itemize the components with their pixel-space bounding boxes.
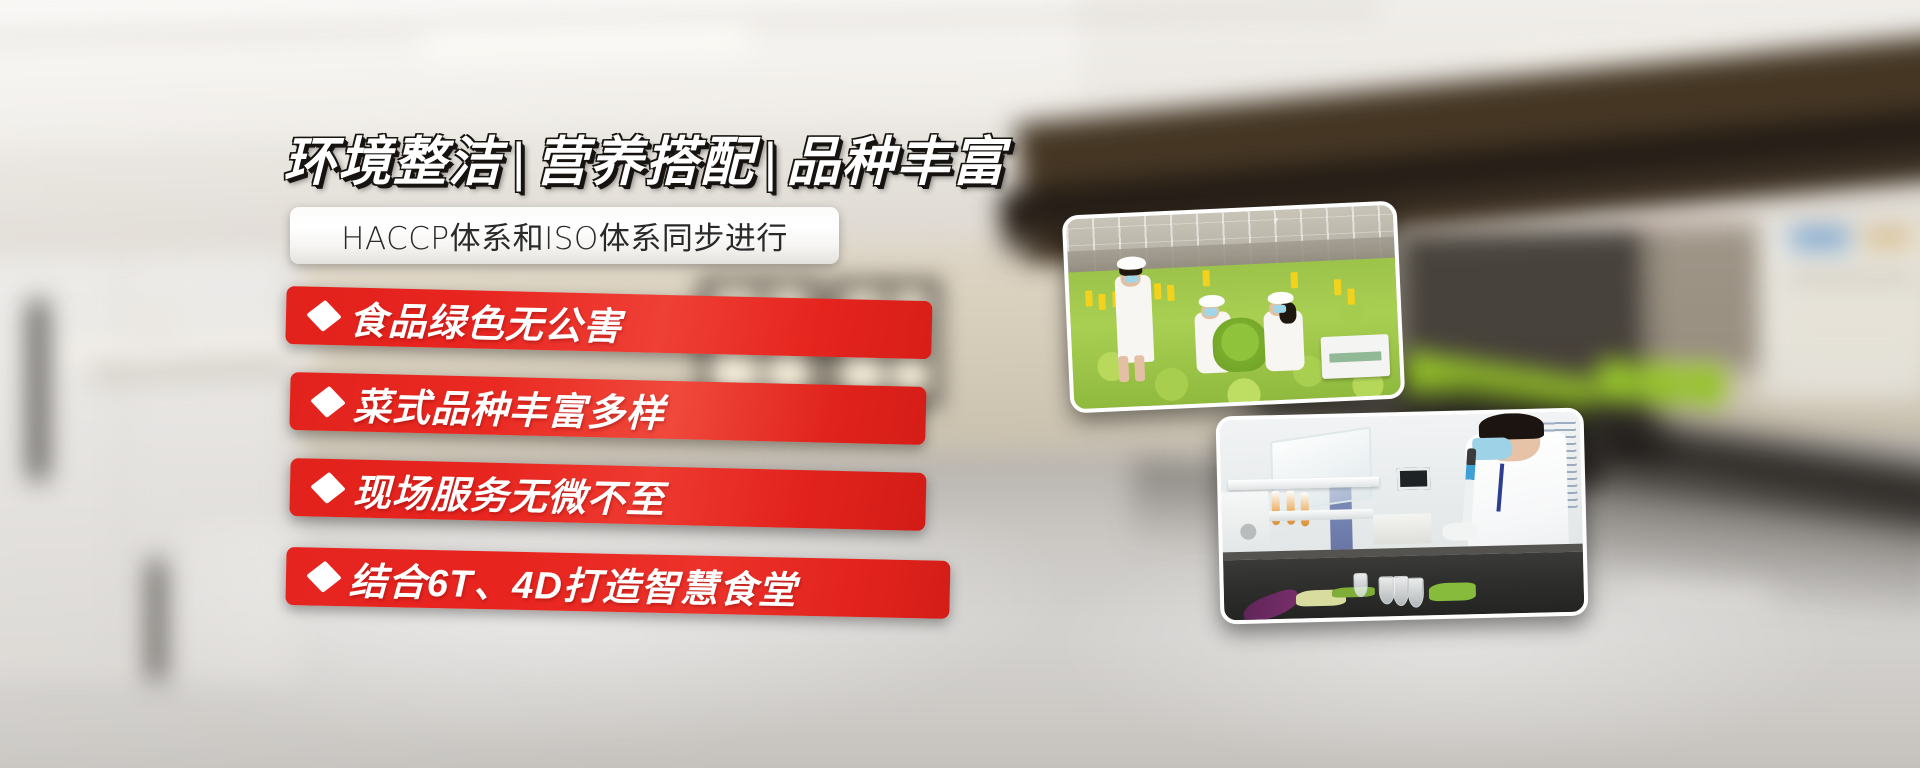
plant-marker [1202, 270, 1210, 286]
plant-marker [1099, 294, 1107, 310]
sample-box-label [1329, 351, 1382, 363]
plant-marker [1085, 291, 1093, 307]
diamond-bullet-icon [310, 472, 346, 504]
plant-marker [1334, 279, 1342, 295]
lab-vent-window [1397, 467, 1430, 490]
green-vegetable-sample [1429, 582, 1476, 601]
headline-separator-1: | [503, 133, 535, 192]
sample-box [1320, 334, 1390, 379]
plant-marker [1291, 272, 1299, 288]
headline-part-2: 营养搭配 [535, 133, 755, 192]
feature-banner-2-label: 菜式品种丰富多样 [352, 375, 665, 437]
diamond-bullet-icon [310, 386, 346, 418]
inspector-standing [1114, 275, 1154, 364]
inspector-leg [1134, 355, 1145, 382]
inspector-mask [1273, 305, 1286, 313]
feature-banner-4-label: 结合6T、4D打造智慧食堂 [348, 550, 797, 614]
greenhouse-photo-content [1066, 205, 1401, 410]
headline-part-1: 环境整洁 [283, 133, 503, 192]
inspector-leg [1118, 356, 1129, 383]
greenhouse-inspection-photo[interactable] [1062, 201, 1406, 414]
plant-marker [1167, 285, 1175, 301]
diamond-bullet-icon [306, 300, 342, 332]
plant-marker [1347, 288, 1355, 304]
lab-photo-content [1220, 412, 1585, 621]
feature-banner-1-label: 食品绿色无公害 [348, 289, 622, 350]
glass-funnel [1407, 578, 1424, 608]
headline-separator-2: | [755, 133, 787, 192]
plant-marker [1154, 284, 1162, 300]
diamond-bullet-icon [306, 561, 342, 593]
certification-pill: HACCP体系和ISO体系同步进行 [290, 207, 839, 264]
glass-funnel [1353, 573, 1368, 597]
inspector-mask [1204, 308, 1217, 316]
background-veil [0, 0, 1920, 768]
banner-headline: 环境整洁|营养搭配|品种丰富 [283, 120, 1007, 196]
feature-banner-3-label: 现场服务无微不至 [352, 461, 665, 523]
headline-part-3: 品种丰富 [787, 133, 1007, 192]
harvested-lettuce [1211, 317, 1269, 373]
technician-mask [1472, 437, 1512, 460]
inspector-mask [1124, 275, 1139, 283]
certification-pill-label: HACCP体系和ISO体系同步进行 [341, 213, 788, 258]
banner-stage: 环境整洁|营养搭配|品种丰富 HACCP体系和ISO体系同步进行 食品绿色无公害… [0, 0, 1920, 768]
technician-hair [1479, 413, 1544, 441]
background-photo [0, 0, 1920, 768]
lab-analyzer [1373, 513, 1431, 544]
technician-glove [1442, 522, 1478, 541]
lab-testing-photo[interactable] [1216, 408, 1589, 625]
